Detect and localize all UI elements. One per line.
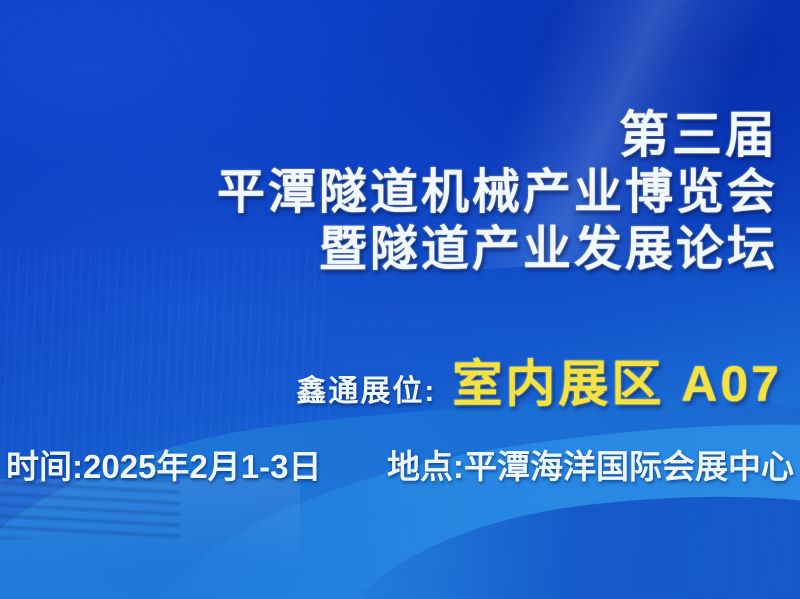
event-title-line-1: 第三届 (217, 106, 778, 164)
event-date: 时间:2025年2月1-3日 (6, 440, 321, 488)
poster-content: 第三届 平潭隧道机械产业博览会 暨隧道产业发展论坛 鑫通展位: 室内展区 A07… (0, 0, 800, 599)
event-title-line-3: 暨隧道产业发展论坛 (217, 222, 778, 278)
booth-info-row: 鑫通展位: 室内展区 A07 (0, 344, 782, 416)
event-poster: 第三届 平潭隧道机械产业博览会 暨隧道产业发展论坛 鑫通展位: 室内展区 A07… (0, 0, 800, 599)
event-footer-row: 时间:2025年2月1-3日 地点:平潭海洋国际会展中心 (6, 440, 794, 488)
event-title-block: 第三届 平潭隧道机械产业博览会 暨隧道产业发展论坛 (217, 106, 778, 278)
event-venue: 地点:平潭海洋国际会展中心 (387, 440, 794, 488)
booth-number: 室内展区 A07 (452, 344, 782, 416)
booth-label: 鑫通展位: (296, 366, 436, 410)
event-title-line-2: 平潭隧道机械产业博览会 (217, 165, 778, 221)
